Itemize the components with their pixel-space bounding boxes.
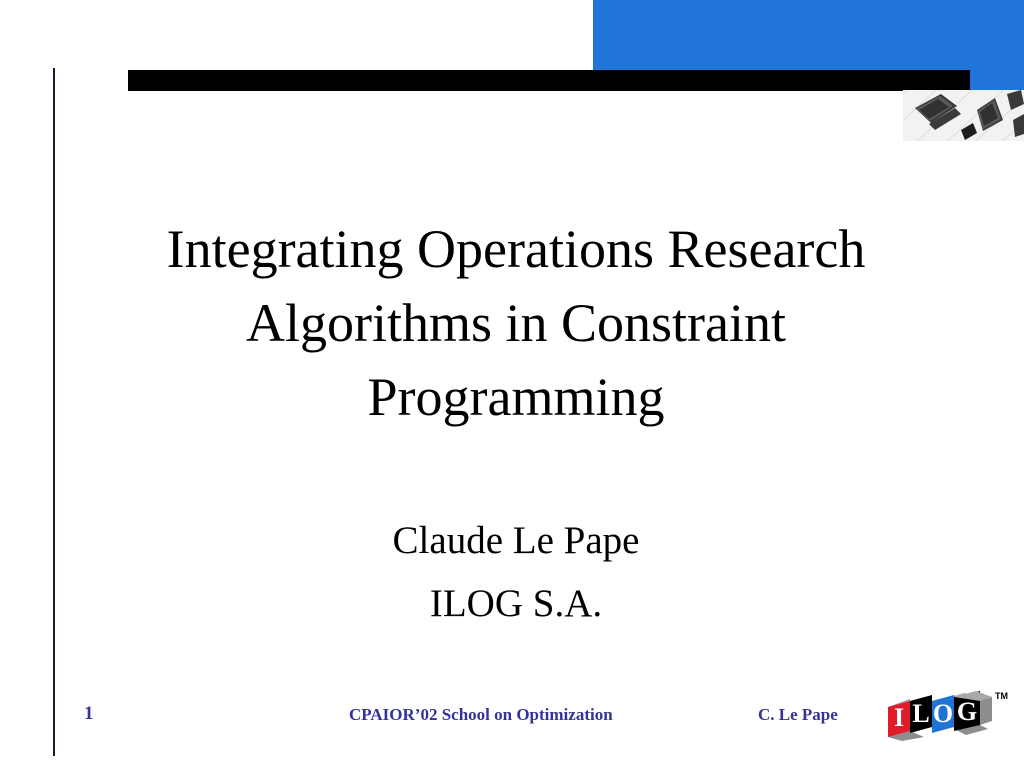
- svg-text:G: G: [957, 697, 977, 726]
- title-line-3: Programming: [96, 360, 936, 434]
- trademark-symbol: TM: [995, 691, 1008, 701]
- footer-author: C. Le Pape: [758, 705, 838, 725]
- author-name: Claude Le Pape: [96, 509, 936, 572]
- decorative-texture-patch: [903, 90, 1024, 141]
- left-vertical-rule: [53, 68, 55, 756]
- footer-page-number: 1: [84, 703, 94, 725]
- svg-text:O: O: [933, 699, 953, 728]
- svg-text:L: L: [912, 699, 929, 728]
- page-title: Integrating Operations Research Algorith…: [96, 212, 936, 434]
- footer-event-title: CPAIOR’02 School on Optimization: [349, 705, 613, 725]
- author-affiliation: ILOG S.A.: [96, 572, 936, 635]
- slide-subtitle: Claude Le Pape ILOG S.A.: [96, 509, 936, 635]
- slide-canvas: Integrating Operations Research Algorith…: [0, 0, 1024, 768]
- header-black-bar: [128, 70, 970, 91]
- title-line-1: Integrating Operations Research: [96, 212, 936, 286]
- svg-text:I: I: [894, 703, 904, 732]
- ilog-logo: I L O G TM: [880, 691, 1010, 741]
- title-line-2: Algorithms in Constraint: [96, 286, 936, 360]
